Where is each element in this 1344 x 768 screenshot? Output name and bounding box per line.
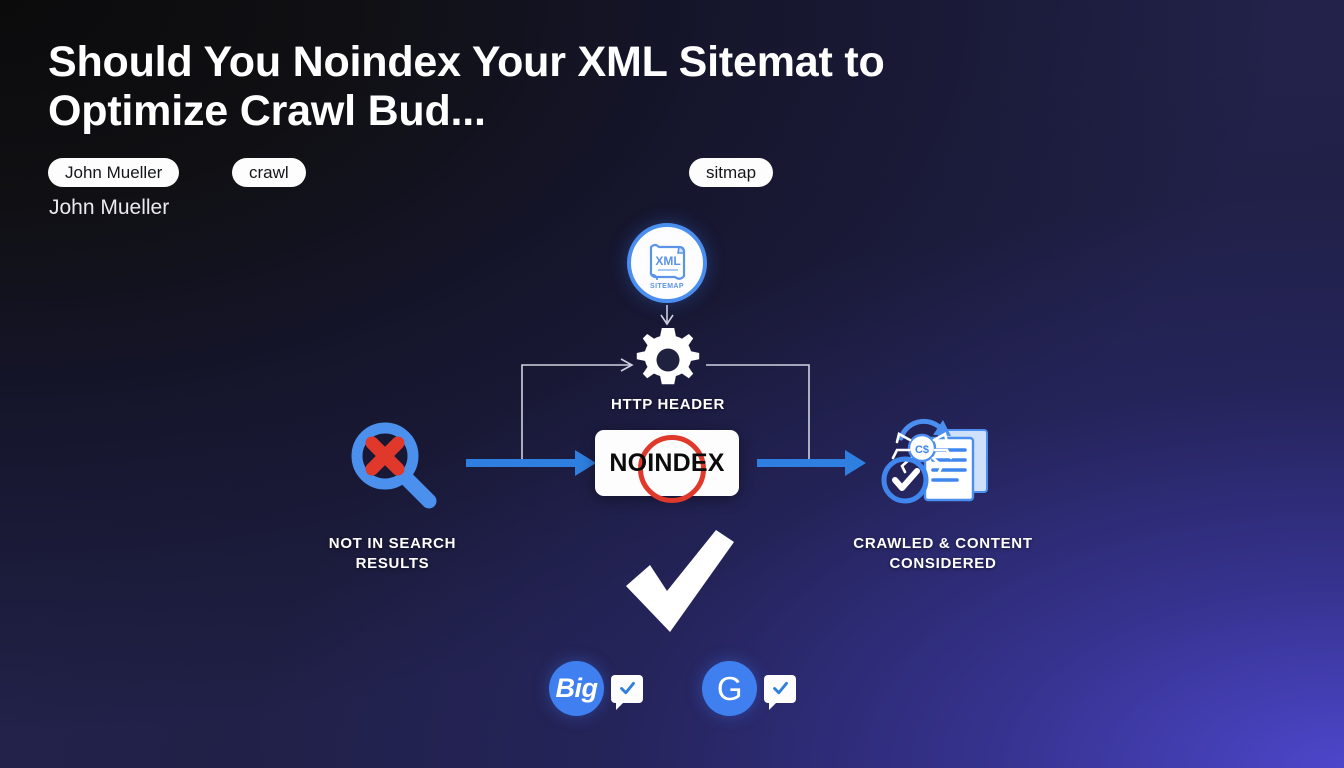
svg-text:C$: C$ bbox=[915, 444, 929, 456]
xml-doc-label: XML bbox=[655, 254, 680, 268]
slide-canvas: Should You Noindex Your XML Sitemat to O… bbox=[0, 0, 1344, 768]
noindex-label: NOINDEX bbox=[609, 449, 724, 478]
byline-author: John Mueller bbox=[49, 196, 169, 220]
noindex-box[interactable]: NOINDEX bbox=[595, 430, 739, 496]
bing-logo: Big bbox=[549, 661, 604, 716]
http-header-gear-node[interactable] bbox=[634, 326, 702, 394]
page-title: Should You Noindex Your XML Sitemat to O… bbox=[48, 38, 1008, 135]
google-logo: G bbox=[702, 661, 757, 716]
not-in-search-results-caption: NOT IN SEARCH RESULTS bbox=[285, 534, 500, 575]
pill-author[interactable]: John Mueller bbox=[48, 158, 179, 187]
crawled-content-caption: CRAWLED & CONTENT CONSIDERED bbox=[833, 534, 1053, 575]
check-glyph bbox=[772, 680, 789, 697]
check-bubble-icon bbox=[611, 675, 643, 703]
xml-sitemap-node[interactable]: XML SITEMAP bbox=[627, 223, 707, 303]
crawled-content-node[interactable]: C$ bbox=[877, 408, 999, 512]
checkmark-icon bbox=[620, 528, 740, 638]
engine-google[interactable]: G bbox=[702, 661, 796, 716]
magnifier-x-icon bbox=[345, 420, 440, 510]
pill-tag[interactable]: sitmap bbox=[689, 158, 773, 187]
big-check-node bbox=[620, 528, 740, 638]
sitemap-sub-label: SITEMAP bbox=[638, 283, 696, 290]
check-bubble-icon bbox=[764, 675, 796, 703]
http-header-caption: HTTP HEADER bbox=[568, 395, 768, 415]
crawler-documents-icon: C$ bbox=[877, 408, 999, 512]
check-glyph bbox=[619, 680, 636, 697]
engine-bing[interactable]: Big bbox=[549, 661, 643, 716]
gear-icon bbox=[634, 326, 702, 394]
not-in-search-results-node[interactable] bbox=[345, 420, 440, 510]
pill-topic[interactable]: crawl bbox=[232, 158, 306, 187]
